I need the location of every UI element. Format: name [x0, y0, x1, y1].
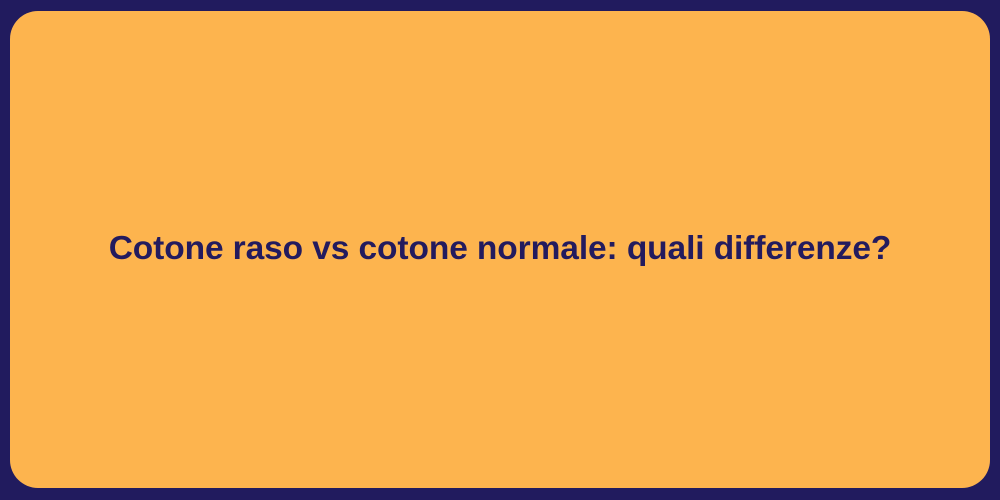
banner-card: Cotone raso vs cotone normale: quali dif… — [10, 11, 990, 488]
page-title: Cotone raso vs cotone normale: quali dif… — [109, 228, 892, 270]
headline-container: Cotone raso vs cotone normale: quali dif… — [10, 11, 990, 488]
banner-frame: Cotone raso vs cotone normale: quali dif… — [0, 0, 1000, 500]
